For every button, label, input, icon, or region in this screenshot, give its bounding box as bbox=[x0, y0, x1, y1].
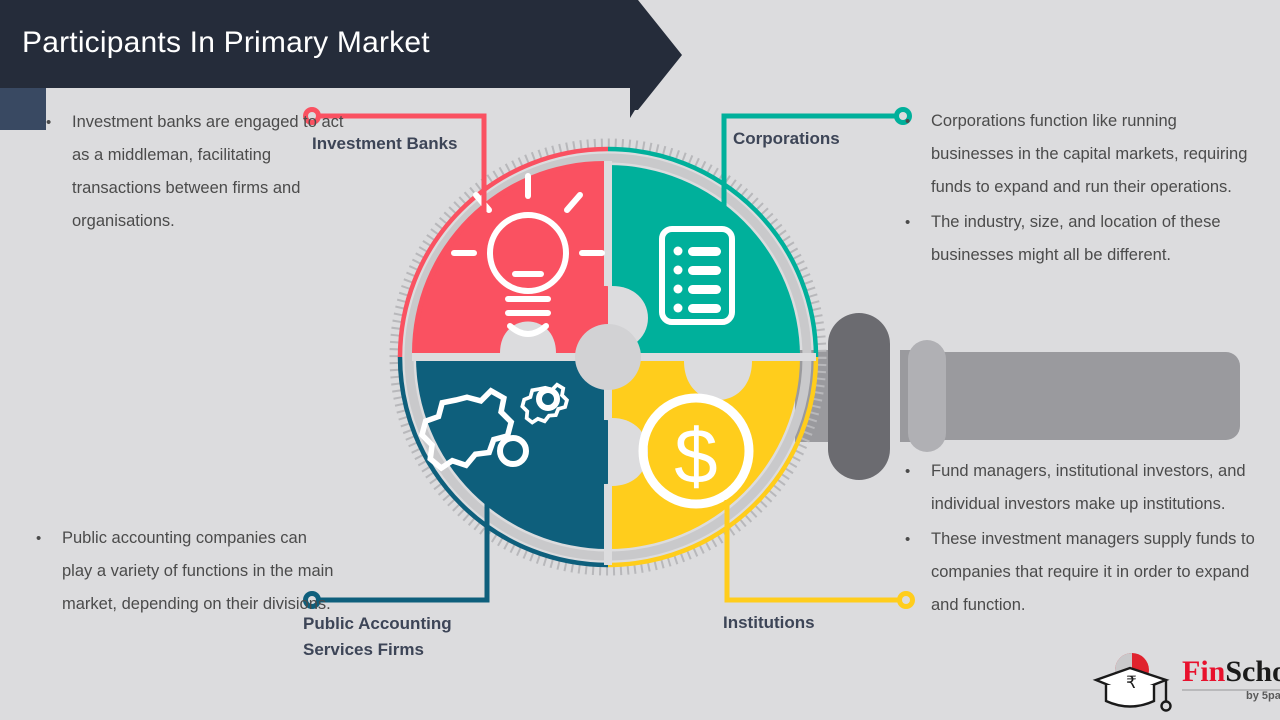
text-block-investment-banks: • Investment banks are engaged to act as… bbox=[46, 106, 346, 240]
logo-tagline-prefix: by bbox=[1246, 690, 1262, 702]
list-item: • Corporations function like running bus… bbox=[905, 105, 1250, 204]
outer-color-arcs bbox=[400, 149, 816, 565]
logo-text-school: School bbox=[1225, 655, 1280, 688]
bullet-text: Fund managers, institutional investors, … bbox=[931, 455, 1260, 521]
list-item: • These investment managers supply funds… bbox=[905, 523, 1260, 622]
list-item: • Fund managers, institutional investors… bbox=[905, 455, 1260, 521]
quadrant-investment-banks[interactable] bbox=[412, 161, 800, 549]
bullet-glyph: • bbox=[905, 105, 931, 204]
bullet-text: Corporations function like running busin… bbox=[931, 105, 1250, 204]
connector-public-accounting bbox=[318, 497, 487, 600]
lightbulb-icon bbox=[454, 176, 602, 334]
quadrant-institutions[interactable] bbox=[416, 165, 816, 565]
bullet-glyph: • bbox=[905, 523, 931, 622]
bullet-glyph: • bbox=[905, 455, 931, 521]
header: Participants In Primary Market bbox=[0, 0, 680, 110]
bullet-text: These investment managers supply funds t… bbox=[931, 523, 1260, 622]
bullet-text: Investment banks are engaged to act as a… bbox=[72, 106, 346, 238]
inner-gray-ring bbox=[409, 158, 807, 556]
key-body bbox=[930, 352, 1240, 440]
svg-text:₹: ₹ bbox=[1126, 673, 1137, 692]
text-block-corporations: • Corporations function like running bus… bbox=[905, 105, 1250, 274]
bullet-text: The industry, size, and location of thes… bbox=[931, 206, 1250, 272]
logo-tagline-brand: 5paisa bbox=[1262, 690, 1280, 702]
bullet-glyph: • bbox=[905, 206, 931, 272]
key-shaft-mid bbox=[900, 350, 930, 442]
slide-canvas: $ Participants In Primary Market Investm… bbox=[0, 0, 1280, 720]
key-collar bbox=[908, 340, 946, 452]
list-item: • Investment banks are engaged to act as… bbox=[46, 106, 346, 238]
key-head bbox=[828, 313, 890, 480]
bullet-glyph: • bbox=[46, 106, 72, 238]
connector-institutions bbox=[727, 500, 902, 600]
bullet-glyph: • bbox=[36, 522, 62, 621]
logo-tagline: by 5paisa bbox=[1246, 690, 1280, 702]
list-item: • Public accounting companies can play a… bbox=[36, 522, 336, 621]
bullet-text: Public accounting companies can play a v… bbox=[62, 522, 336, 621]
logo-text-fin: Fin bbox=[1182, 655, 1225, 688]
arc-institutions bbox=[608, 357, 816, 565]
checklist-icon bbox=[662, 229, 732, 322]
arc-public-accounting bbox=[400, 357, 608, 565]
arc-investment-banks bbox=[400, 149, 608, 357]
key-shaft-near bbox=[795, 350, 855, 442]
list-item: • The industry, size, and location of th… bbox=[905, 206, 1250, 272]
text-block-institutions: • Fund managers, institutional investors… bbox=[905, 455, 1260, 624]
graduation-cap-rupee-icon: ₹ bbox=[1086, 652, 1182, 714]
page-title: Participants In Primary Market bbox=[22, 26, 430, 60]
dashed-tick-ring bbox=[394, 143, 822, 571]
dollar-coin-icon: $ bbox=[643, 398, 749, 504]
connector-nodes bbox=[303, 107, 915, 609]
logo-wordmark: FinSchool bbox=[1182, 656, 1280, 688]
text-block-public-accounting: • Public accounting companies can play a… bbox=[36, 522, 336, 623]
quadrant-corporations[interactable] bbox=[416, 161, 816, 549]
arc-corporations bbox=[608, 149, 816, 357]
connector-lines bbox=[318, 116, 902, 600]
quadrant-public-accounting[interactable] bbox=[412, 165, 800, 565]
gears-icon bbox=[422, 385, 567, 468]
label-institutions[interactable]: Institutions bbox=[723, 610, 815, 636]
svg-text:$: $ bbox=[674, 412, 717, 500]
label-corporations[interactable]: Corporations bbox=[733, 126, 840, 152]
center-hub bbox=[575, 324, 641, 390]
finschool-logo[interactable]: ₹ FinSchool by 5paisa bbox=[1086, 652, 1276, 714]
